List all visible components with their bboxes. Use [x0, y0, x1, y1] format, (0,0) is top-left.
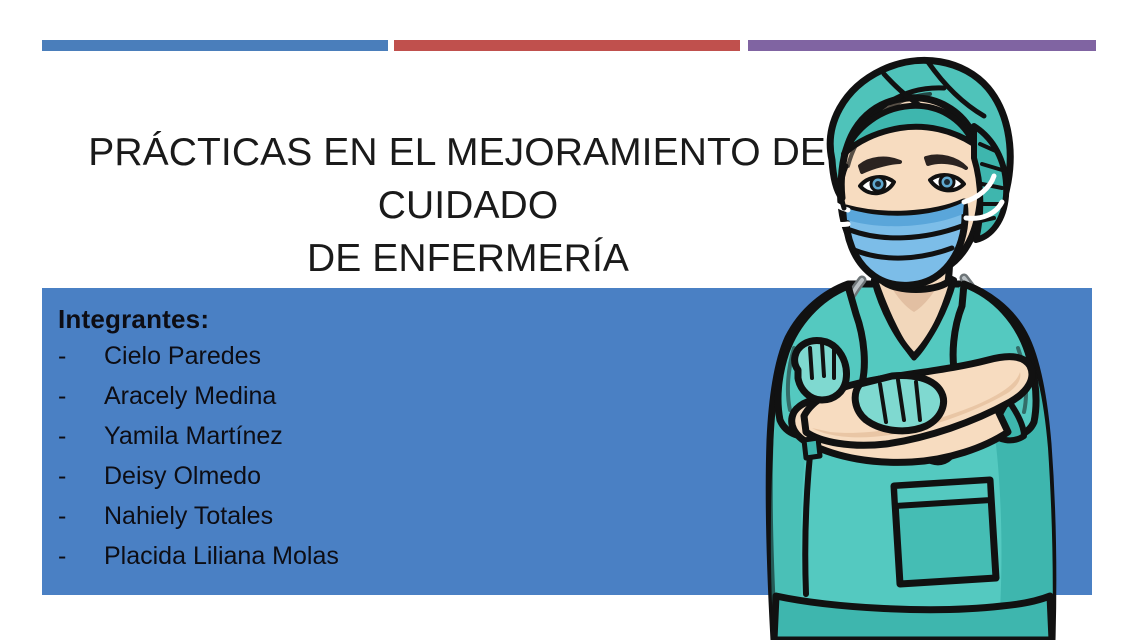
bullet-marker: - — [58, 462, 104, 491]
members-panel: Integrantes: - Cielo Paredes - Aracely M… — [42, 288, 1092, 595]
member-name: Nahiely Totales — [104, 502, 273, 531]
presentation-slide: PRÁCTICAS EN EL MEJORAMIENTO DEL CUIDADO… — [0, 0, 1138, 640]
bullet-marker: - — [58, 382, 104, 411]
member-name: Deisy Olmedo — [104, 462, 261, 491]
bullet-marker: - — [58, 542, 104, 571]
members-heading: Integrantes: — [58, 304, 209, 335]
list-item: - Nahiely Totales — [58, 502, 339, 542]
bullet-marker: - — [58, 342, 104, 371]
member-name: Aracely Medina — [104, 382, 276, 411]
accent-bar-blue — [42, 40, 388, 51]
members-list: - Cielo Paredes - Aracely Medina - Yamil… — [58, 342, 339, 582]
member-name: Cielo Paredes — [104, 342, 261, 371]
bullet-marker: - — [58, 422, 104, 451]
list-item: - Placida Liliana Molas — [58, 542, 339, 582]
accent-bar-red — [394, 40, 740, 51]
list-item: - Cielo Paredes — [58, 342, 339, 382]
member-name: Placida Liliana Molas — [104, 542, 339, 571]
list-item: - Aracely Medina — [58, 382, 339, 422]
slide-title: PRÁCTICAS EN EL MEJORAMIENTO DEL CUIDADO… — [28, 126, 908, 285]
list-item: - Yamila Martínez — [58, 422, 339, 462]
bullet-marker: - — [58, 502, 104, 531]
accent-bar-purple — [748, 40, 1096, 51]
list-item: - Deisy Olmedo — [58, 462, 339, 502]
member-name: Yamila Martínez — [104, 422, 283, 451]
